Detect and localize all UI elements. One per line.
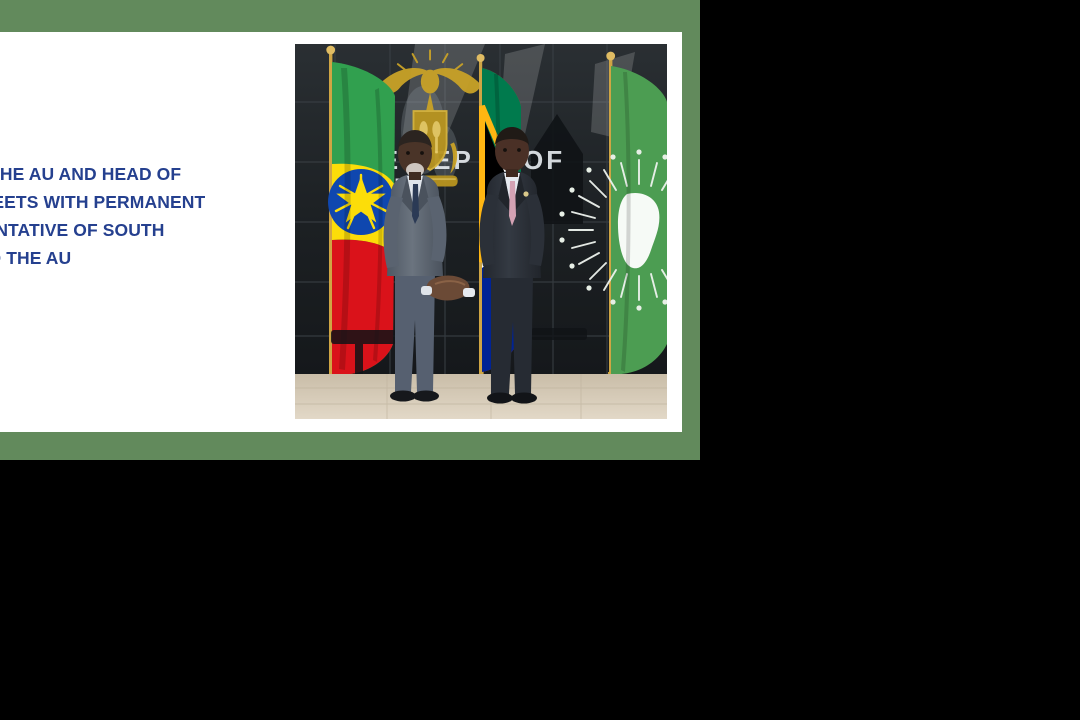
headline-line-3: ESENTATIVE OF SOUTH bbox=[0, 216, 300, 244]
browser-viewport: TO THE AU AND HEAD OF U MEETS WITH PERMA… bbox=[0, 0, 1080, 720]
photo-illustration: HE REP AFF OF bbox=[295, 44, 667, 419]
wall-text-line-3: OF bbox=[523, 145, 565, 175]
article-content-card: TO THE AU AND HEAD OF U MEETS WITH PERMA… bbox=[0, 32, 682, 432]
article-photo-frame: HE REP AFF OF bbox=[295, 44, 667, 419]
headline-line-2: U MEETS WITH PERMANENT bbox=[0, 188, 300, 216]
article-headline: TO THE AU AND HEAD OF U MEETS WITH PERMA… bbox=[0, 160, 300, 272]
headline-line-1: TO THE AU AND HEAD OF bbox=[0, 160, 300, 188]
headline-line-4: A TO THE AU bbox=[0, 244, 300, 272]
page-green-frame: TO THE AU AND HEAD OF U MEETS WITH PERMA… bbox=[0, 0, 700, 460]
article-photo: HE REP AFF OF bbox=[295, 44, 667, 419]
